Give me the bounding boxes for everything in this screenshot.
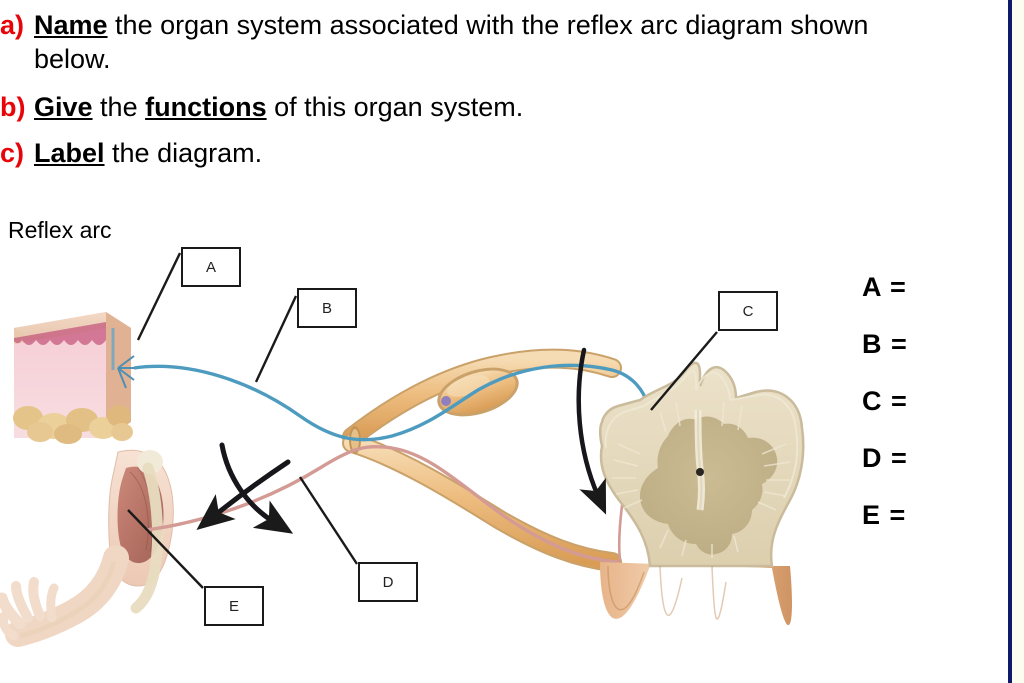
spinal-cord-cross-section xyxy=(600,363,803,625)
answer-blank-e[interactable]: E = xyxy=(862,500,908,531)
label-box-c[interactable]: C xyxy=(718,291,778,331)
answer-blank-d[interactable]: D = xyxy=(862,443,908,474)
answer-blank-a[interactable]: A = xyxy=(862,272,908,303)
question-text-a: Name the organ system associated with th… xyxy=(34,8,939,76)
question-list: a) Name the organ system associated with… xyxy=(0,8,960,174)
question-b-bold-second: functions xyxy=(145,92,267,122)
leader-line-a xyxy=(138,253,180,340)
question-b-rest: of this organ system. xyxy=(267,92,524,122)
subcutaneous-fat xyxy=(13,405,133,444)
question-item-c: c) Label the diagram. xyxy=(0,136,960,170)
label-box-b[interactable]: B xyxy=(297,288,357,328)
question-c-rest: the diagram. xyxy=(105,138,263,168)
leader-line-d xyxy=(300,477,357,564)
label-box-d[interactable]: D xyxy=(358,562,418,602)
label-box-a[interactable]: A xyxy=(181,247,241,287)
label-box-e[interactable]: E xyxy=(204,586,264,626)
question-b-mid: the xyxy=(93,92,146,122)
right-edge-cream-strip xyxy=(1012,0,1024,683)
answer-blank-b[interactable]: B = xyxy=(862,329,908,360)
answer-blank-c[interactable]: C = xyxy=(862,386,908,417)
question-text-b: Give the functions of this organ system. xyxy=(34,90,523,124)
question-a-rest: the organ system associated with the ref… xyxy=(34,10,868,74)
question-c-bold-lead: Label xyxy=(34,138,105,168)
question-marker-c: c) xyxy=(0,136,34,170)
question-a-bold-lead: Name xyxy=(34,10,108,40)
leader-line-b xyxy=(256,296,296,382)
question-item-b: b) Give the functions of this organ syst… xyxy=(0,90,960,124)
arm-effector-muscle xyxy=(2,450,173,636)
question-marker-a: a) xyxy=(0,8,34,42)
question-item-a: a) Name the organ system associated with… xyxy=(0,8,960,76)
skin-receptor-block xyxy=(13,312,137,444)
answer-blank-list: A = B = C = D = E = xyxy=(862,272,908,557)
slide-canvas: a) Name the organ system associated with… xyxy=(0,0,1024,683)
question-text-c: Label the diagram. xyxy=(34,136,262,170)
question-b-bold-lead: Give xyxy=(34,92,93,122)
impulse-direction-arrow-out xyxy=(214,462,288,516)
question-marker-b: b) xyxy=(0,90,34,124)
